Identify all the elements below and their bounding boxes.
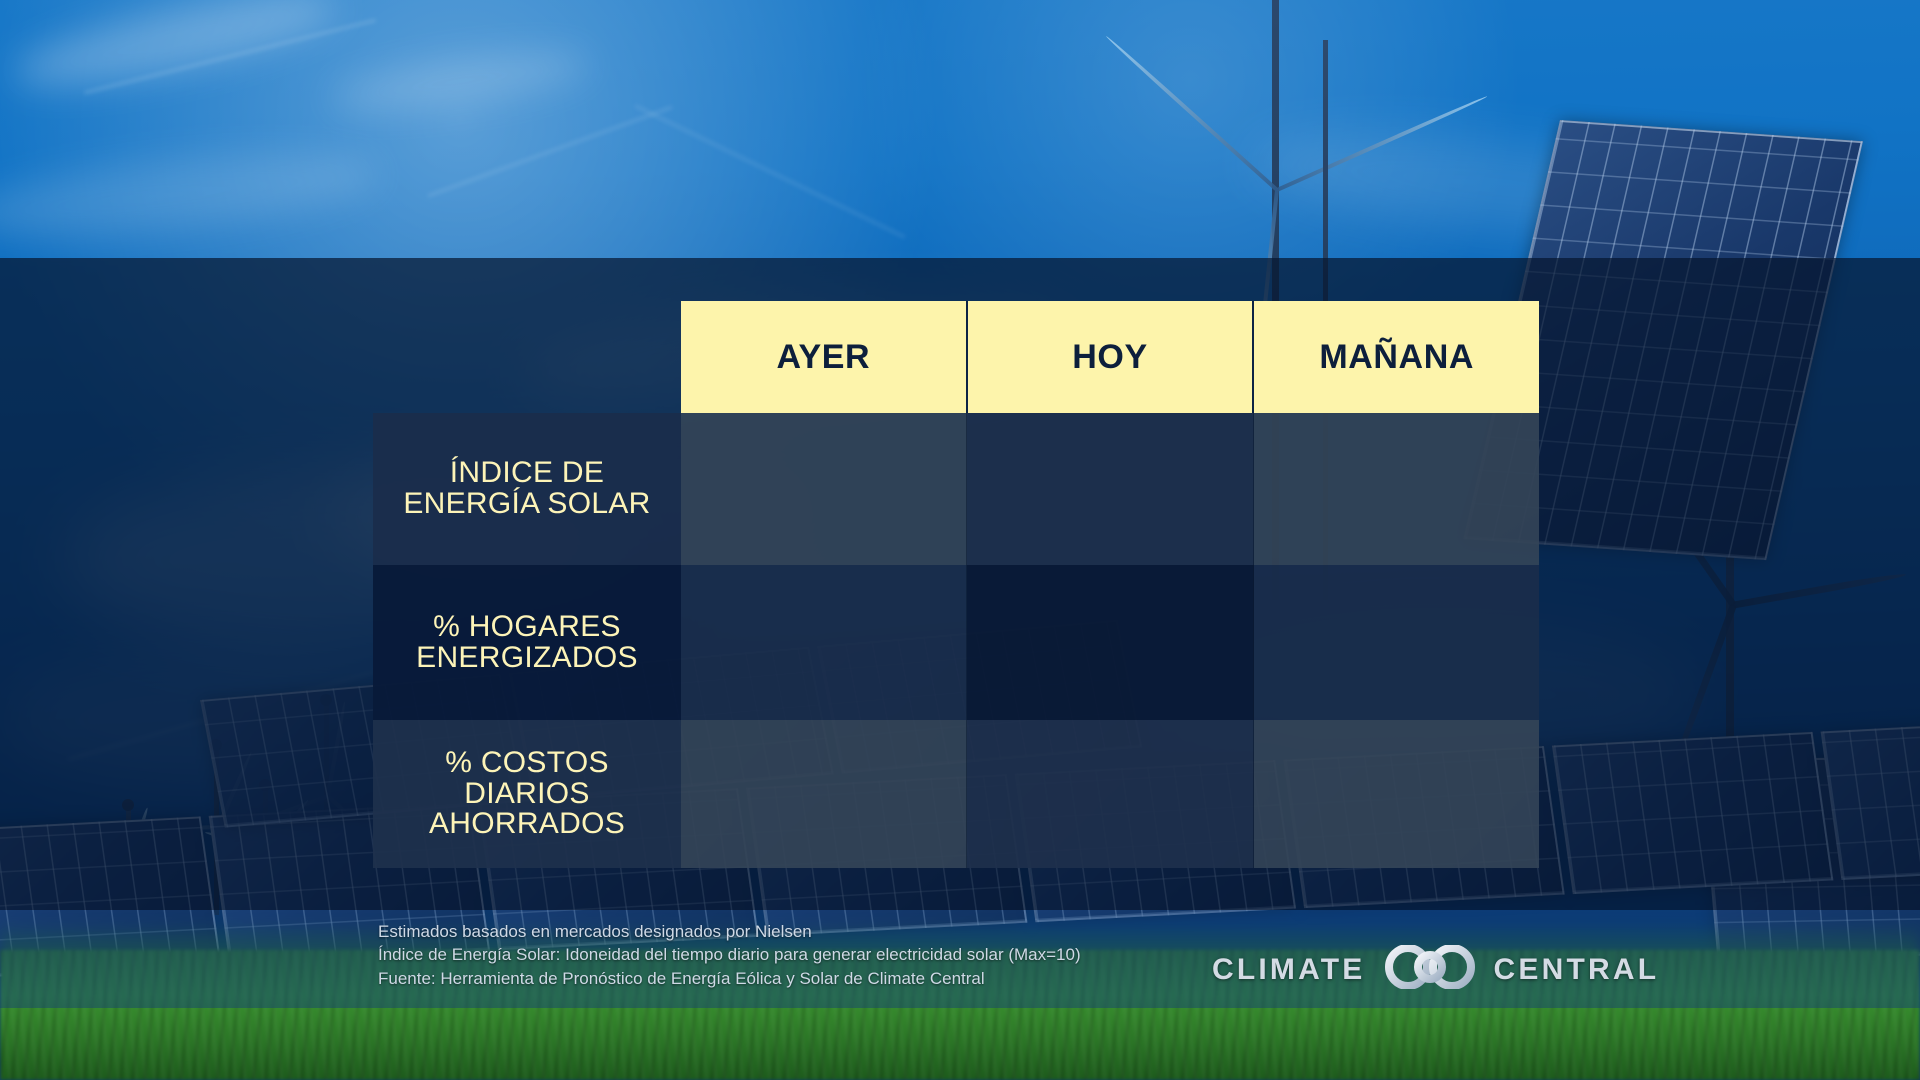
table-body: ÍNDICE DE ENERGÍA SOLAR % HOGARES ENERGI… — [373, 413, 1539, 868]
row-label-costos-diarios-ahorrados: % COSTOS DIARIOS AHORRADOS — [373, 720, 681, 868]
footnote-line-2: Índice de Energía Solar: Idoneidad del t… — [378, 943, 1278, 966]
cell-hogares-hoy — [967, 565, 1253, 720]
row-label-line-1: ÍNDICE DE — [450, 456, 604, 489]
column-header-manana: MAÑANA — [1254, 301, 1539, 413]
column-header-ayer: AYER — [681, 301, 968, 413]
cell-costos-ayer — [681, 720, 967, 868]
footnotes: Estimados basados en mercados designados… — [378, 920, 1278, 990]
cell-indice-ayer — [681, 413, 967, 565]
column-header-hoy: HOY — [968, 301, 1255, 413]
footnote-line-3: Fuente: Herramienta de Pronóstico de Ene… — [378, 967, 1278, 990]
cell-indice-hoy — [967, 413, 1253, 565]
row-label-line-2: ENERGIZADOS — [416, 641, 638, 674]
logo-word-climate: CLIMATE — [1212, 953, 1366, 987]
cell-costos-hoy — [967, 720, 1253, 868]
cell-costos-manana — [1254, 720, 1539, 868]
interlocking-circles-icon — [1382, 945, 1478, 994]
row-label-line-1: % HOGARES — [433, 610, 621, 643]
cell-indice-manana — [1254, 413, 1539, 565]
row-label-line-1: % COSTOS — [445, 746, 609, 779]
row-label-indice-energia-solar: ÍNDICE DE ENERGÍA SOLAR — [373, 413, 681, 565]
row-label-line-2: DIARIOS — [464, 777, 589, 810]
forecast-table: AYER HOY MAÑANA ÍNDICE DE ENERGÍA SOLAR … — [373, 301, 1539, 868]
table-header-row: AYER HOY MAÑANA — [681, 301, 1539, 413]
table-row: % COSTOS DIARIOS AHORRADOS — [373, 720, 1539, 868]
cell-hogares-manana — [1254, 565, 1539, 720]
footnote-line-1: Estimados basados en mercados designados… — [378, 920, 1278, 943]
table-row: % HOGARES ENERGIZADOS — [373, 565, 1539, 720]
climate-central-logo: CLIMATE CENTRAL — [1212, 945, 1659, 994]
table-row: ÍNDICE DE ENERGÍA SOLAR — [373, 413, 1539, 565]
row-label-line-2: ENERGÍA SOLAR — [403, 487, 650, 520]
logo-word-central: CENTRAL — [1494, 953, 1660, 987]
cell-hogares-ayer — [681, 565, 967, 720]
row-label-line-3: AHORRADOS — [429, 807, 625, 840]
row-label-hogares-energizados: % HOGARES ENERGIZADOS — [373, 565, 681, 720]
